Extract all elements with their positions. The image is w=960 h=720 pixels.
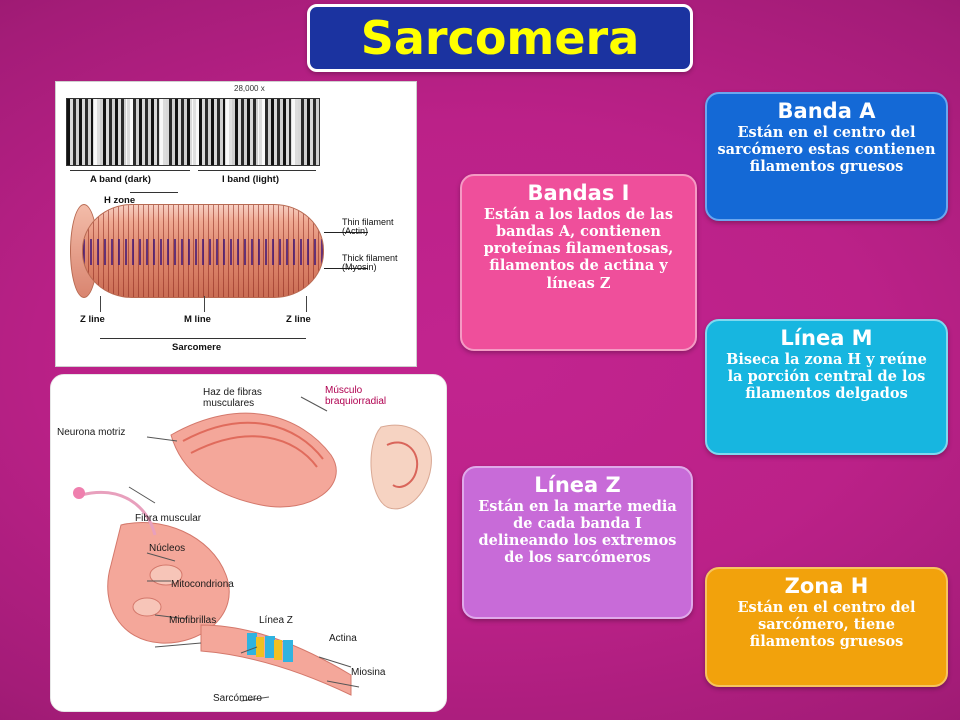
sarcomere-span (100, 338, 306, 339)
a-band-bracket (70, 170, 190, 171)
label-i-band: I band (light) (222, 174, 279, 185)
muscle-fiber-diagram-image: Haz de fibras musculares Músculo braquio… (50, 374, 447, 712)
callout-bandas-i-heading: Bandas I (472, 182, 685, 205)
label-sarcomere: Sarcomere (172, 342, 221, 353)
label-z-line-right: Z line (286, 314, 311, 325)
callout-linea-m: Línea M Biseca la zona H y reúne la porc… (705, 319, 948, 455)
callout-zona-h-heading: Zona H (717, 575, 936, 598)
label-mitocondriona: Mitocondriona (171, 579, 234, 590)
callout-bandas-i-body: Están a los lados de las bandas A, conti… (472, 206, 685, 292)
label-thin-filament: Thin filament (Actin) (342, 218, 412, 237)
callout-linea-z-body: Están en la marte media de cada banda I … (474, 498, 681, 566)
label-nucleos: Núcleos (149, 543, 185, 554)
label-m-line: M line (184, 314, 211, 325)
scale-label: 28,000 x (234, 84, 265, 93)
m-line-tick (204, 296, 205, 312)
page-title-box: Sarcomera (307, 4, 693, 72)
sarcomere-diagram-image: 28,000 x A band (dark) I band (light) H … (55, 81, 417, 367)
z-line-right-tick (306, 296, 307, 312)
callout-zona-h-body: Están en el centro del sarcómero, tiene … (717, 599, 936, 650)
callout-banda-a: Banda A Están en el centro del sarcómero… (705, 92, 948, 221)
label-sarcomero: Sarcómero (213, 693, 262, 704)
label-miosina: Miosina (351, 667, 385, 678)
label-a-band: A band (dark) (90, 174, 151, 185)
label-actina: Actina (329, 633, 357, 644)
label-miofibrillas: Miofibrillas (169, 615, 216, 626)
electron-micrograph (66, 98, 320, 166)
callout-zona-h: Zona H Están en el centro del sarcómero,… (705, 567, 948, 687)
callout-linea-m-body: Biseca la zona H y reúne la porción cent… (717, 351, 936, 402)
page-title: Sarcomera (361, 15, 640, 61)
callout-bandas-i: Bandas I Están a los lados de las bandas… (460, 174, 697, 351)
h-zone-bracket (130, 192, 178, 193)
label-fibra-muscular: Fibra muscular (135, 513, 201, 524)
label-haz-de-fibras: Haz de fibras musculares (203, 387, 277, 409)
callout-banda-a-body: Están en el centro del sarcómero estas c… (717, 124, 936, 175)
callout-banda-a-heading: Banda A (717, 100, 936, 123)
i-band-bracket (198, 170, 316, 171)
label-thick-filament: Thick filament (Myosin) (342, 254, 416, 273)
label-z-line-left: Z line (80, 314, 105, 325)
callout-linea-m-heading: Línea M (717, 327, 936, 350)
callout-linea-z: Línea Z Están en la marte media de cada … (462, 466, 693, 619)
callout-linea-z-heading: Línea Z (474, 474, 681, 497)
label-neurona-motriz: Neurona motriz (57, 427, 129, 438)
myofibril-cylinder (82, 204, 324, 298)
label-musculo-braquiorradial: Músculo braquiorradial (325, 385, 395, 407)
z-line-left-tick (100, 296, 101, 312)
label-linea-z: Línea Z (259, 615, 293, 626)
